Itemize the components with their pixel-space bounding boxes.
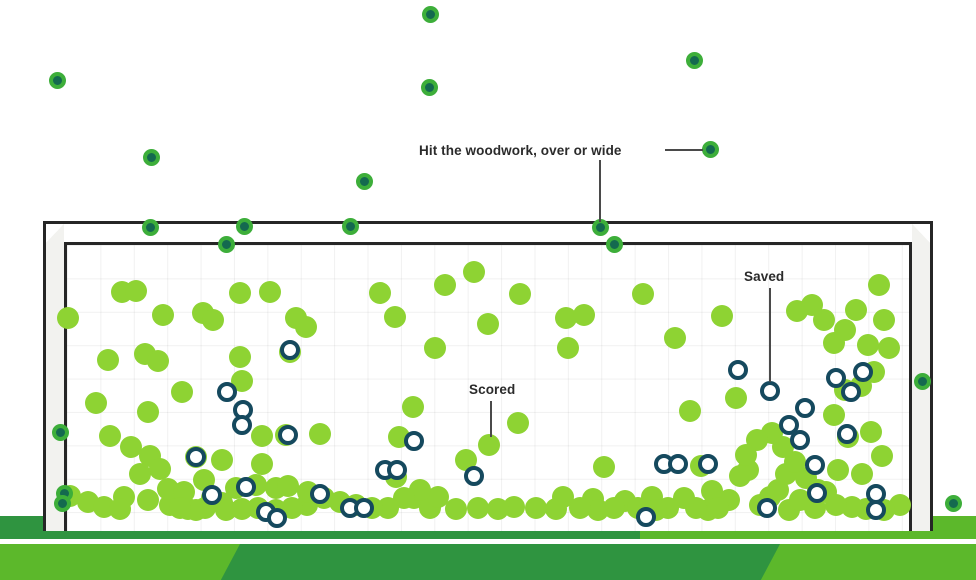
annotation-scored-label: Scored	[469, 382, 515, 397]
annotation-saved-leader	[769, 288, 771, 382]
shot-map-graphic: Hit the woodwork, over or wide Saved Sco…	[0, 0, 976, 580]
shot-marker-off-target	[218, 236, 235, 253]
annotation-scored-leader	[490, 401, 492, 437]
shot-marker-off-target	[54, 495, 71, 512]
shot-marker-off-target	[702, 141, 719, 158]
annotation-saved-label: Saved	[744, 269, 784, 284]
shot-marker-off-target	[914, 373, 931, 390]
shots-off-target-layer	[0, 0, 976, 580]
shot-marker-off-target	[686, 52, 703, 69]
shot-marker-off-target	[143, 149, 160, 166]
shot-marker-off-target	[356, 173, 373, 190]
shot-marker-off-target	[945, 495, 962, 512]
shot-marker-off-target	[422, 6, 439, 23]
shot-marker-off-target	[421, 79, 438, 96]
annotation-woodwork-label: Hit the woodwork, over or wide	[419, 143, 622, 158]
annotation-woodwork-leader-v	[599, 160, 601, 222]
shot-marker-off-target	[52, 424, 69, 441]
shot-marker-off-target	[142, 219, 159, 236]
shot-marker-off-target	[606, 236, 623, 253]
shot-marker-off-target	[236, 218, 253, 235]
shot-marker-off-target	[342, 218, 359, 235]
shot-marker-off-target	[49, 72, 66, 89]
annotation-woodwork-leader-h	[665, 149, 703, 151]
